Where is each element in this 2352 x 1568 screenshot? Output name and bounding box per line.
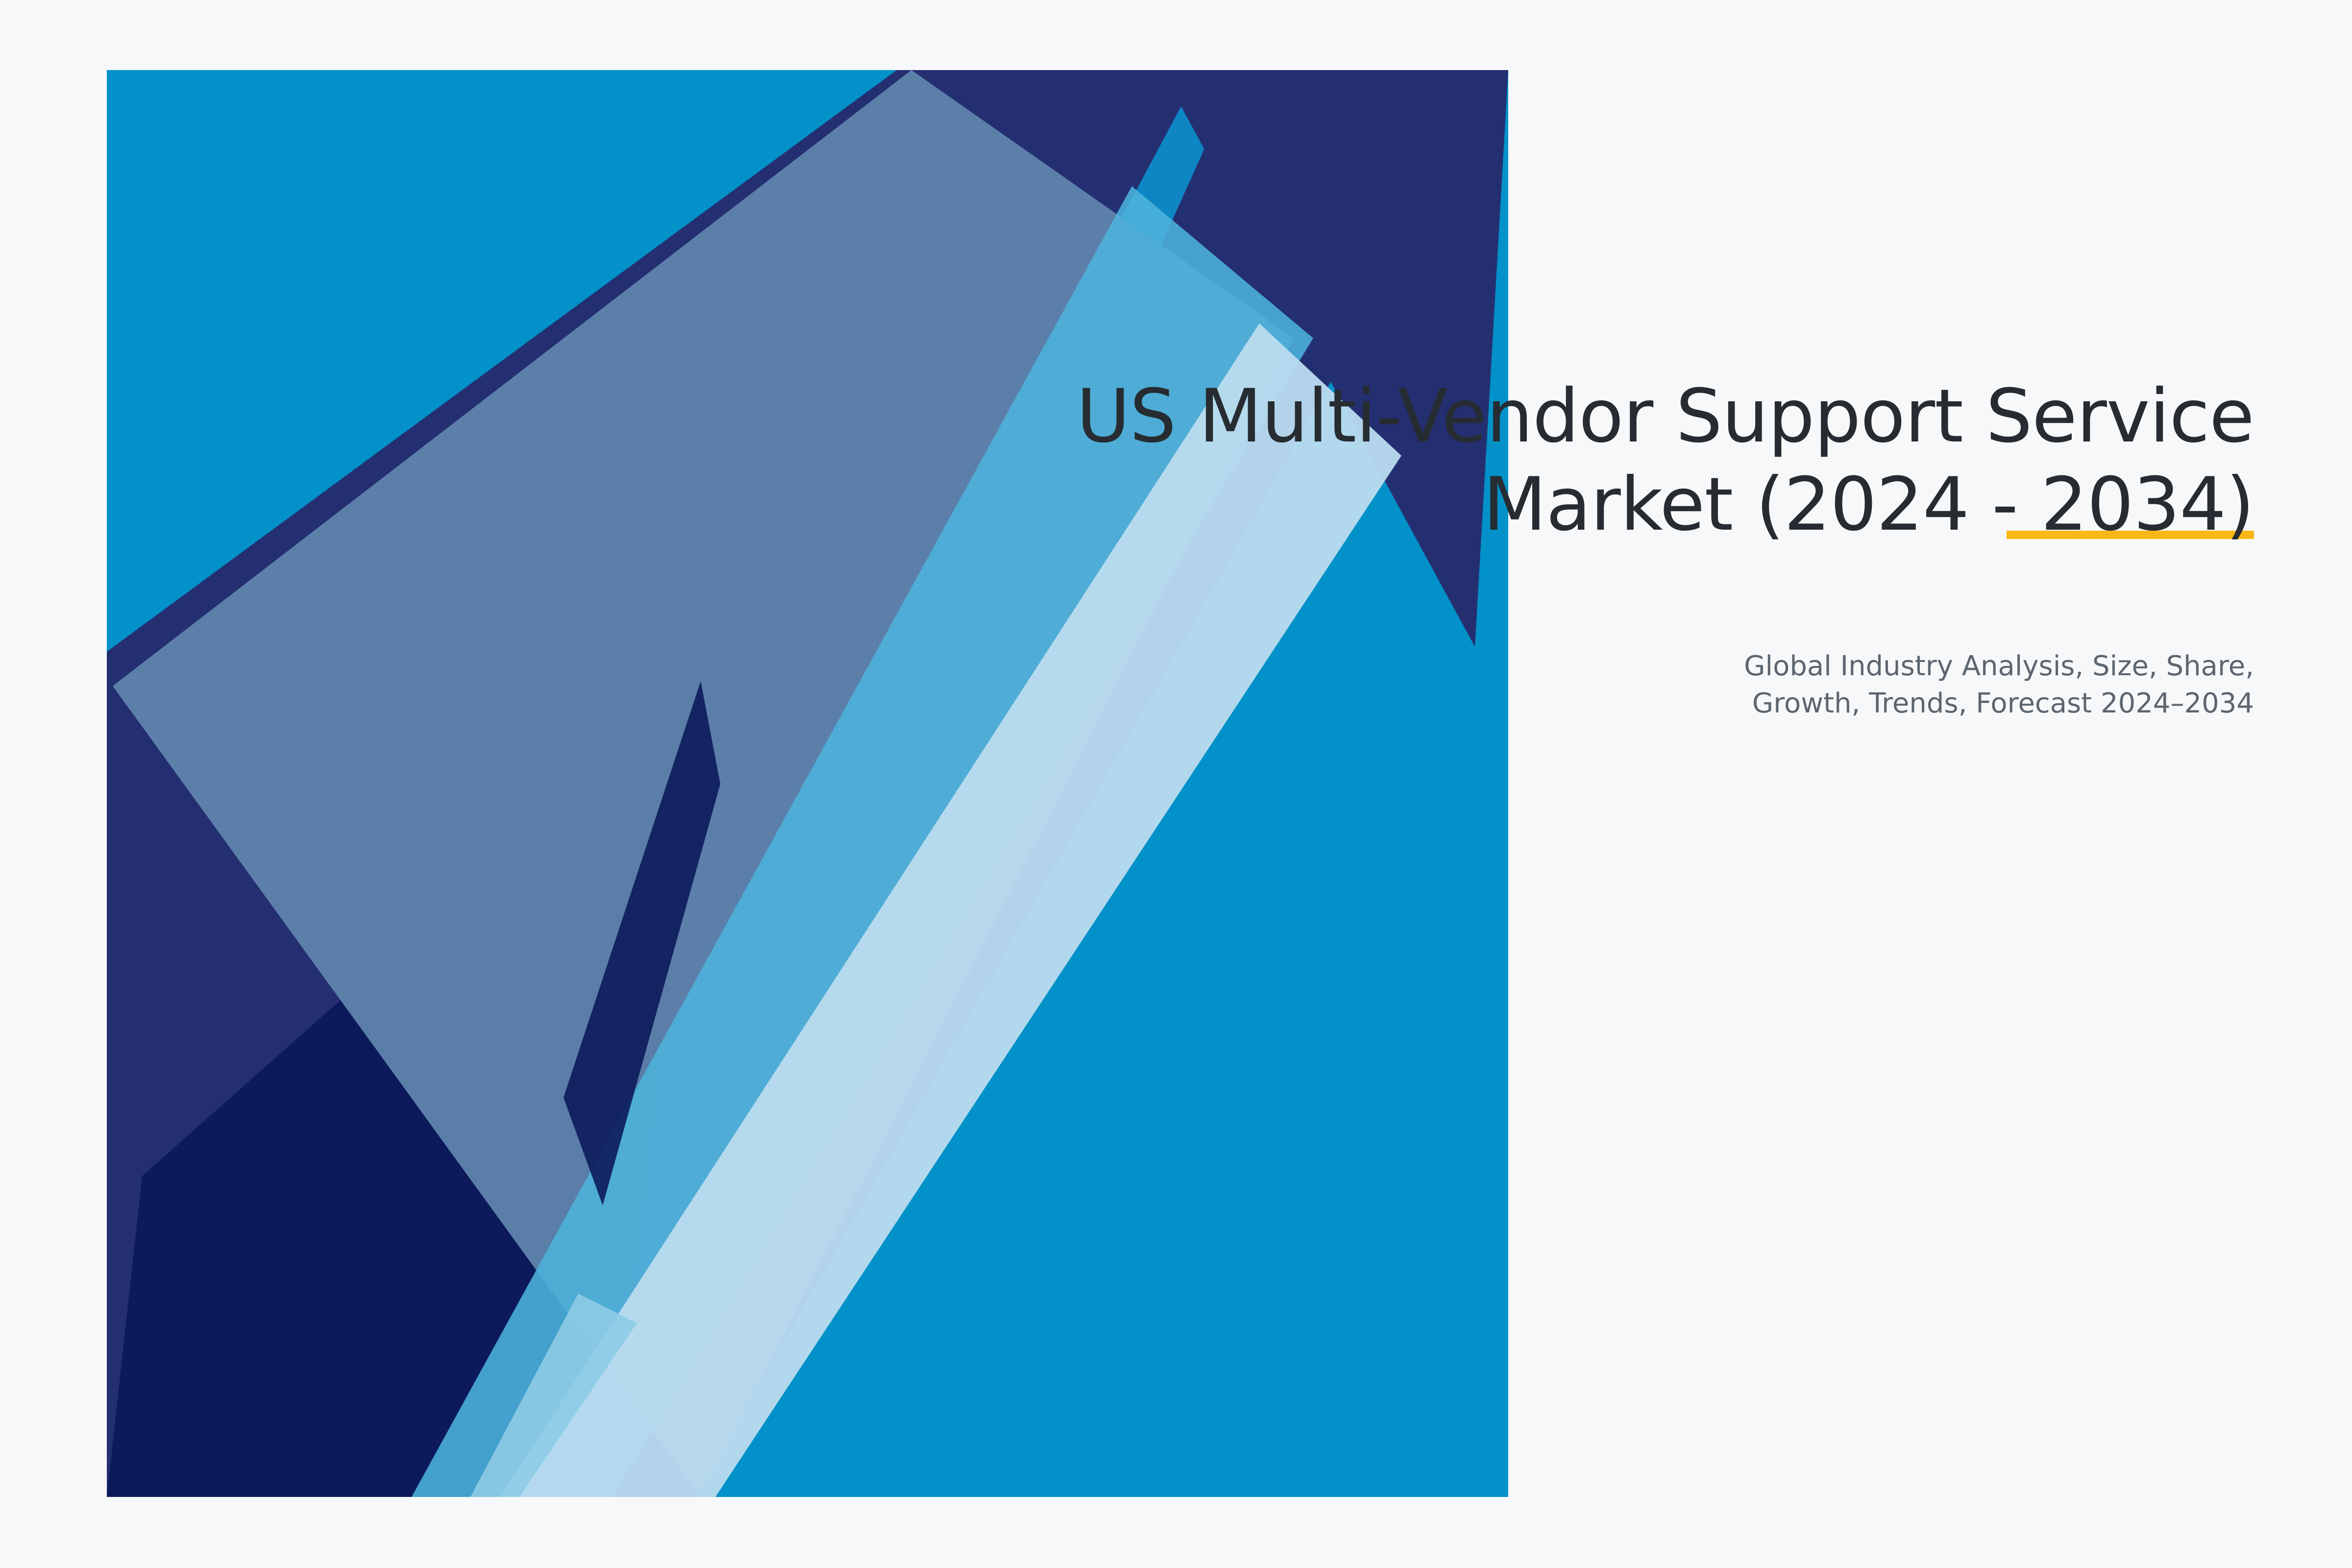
cover-text-block: US Multi-Vendor Support Service Market (… [931, 372, 2254, 549]
page-title: US Multi-Vendor Support Service Market (… [931, 372, 2254, 549]
abstract-geometric-artwork [0, 0, 2352, 1568]
page-subtitle: Global Industry Analysis, Size, Share, G… [931, 648, 2254, 722]
report-cover-page: US Multi-Vendor Support Service Market (… [0, 0, 2352, 1568]
